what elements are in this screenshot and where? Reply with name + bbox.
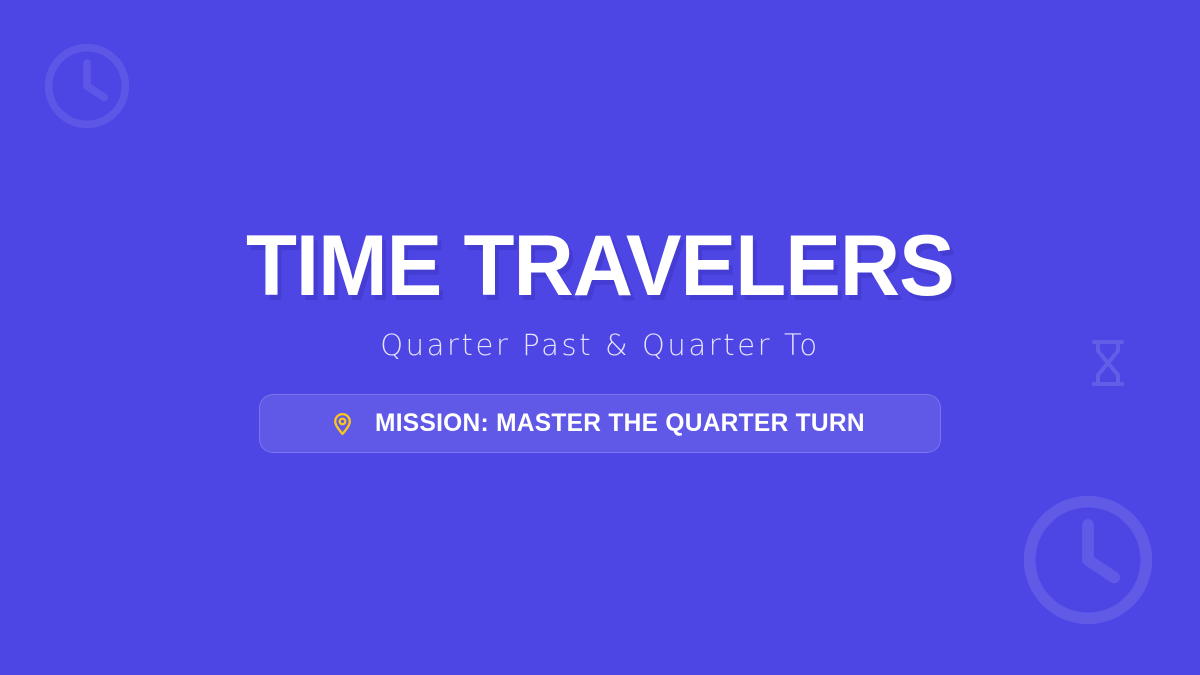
page-title: TIME TRAVELERS — [246, 223, 954, 309]
mission-banner: MISSION: MASTER THE QUARTER TURN — [259, 394, 941, 453]
title-slide: TIME TRAVELERS Quarter Past & Quarter To… — [0, 0, 1200, 675]
slide-content: TIME TRAVELERS Quarter Past & Quarter To… — [0, 0, 1200, 675]
map-pin-icon — [330, 411, 355, 436]
page-subtitle: Quarter Past & Quarter To — [380, 331, 820, 360]
mission-label: MISSION: MASTER THE QUARTER TURN — [375, 409, 865, 438]
